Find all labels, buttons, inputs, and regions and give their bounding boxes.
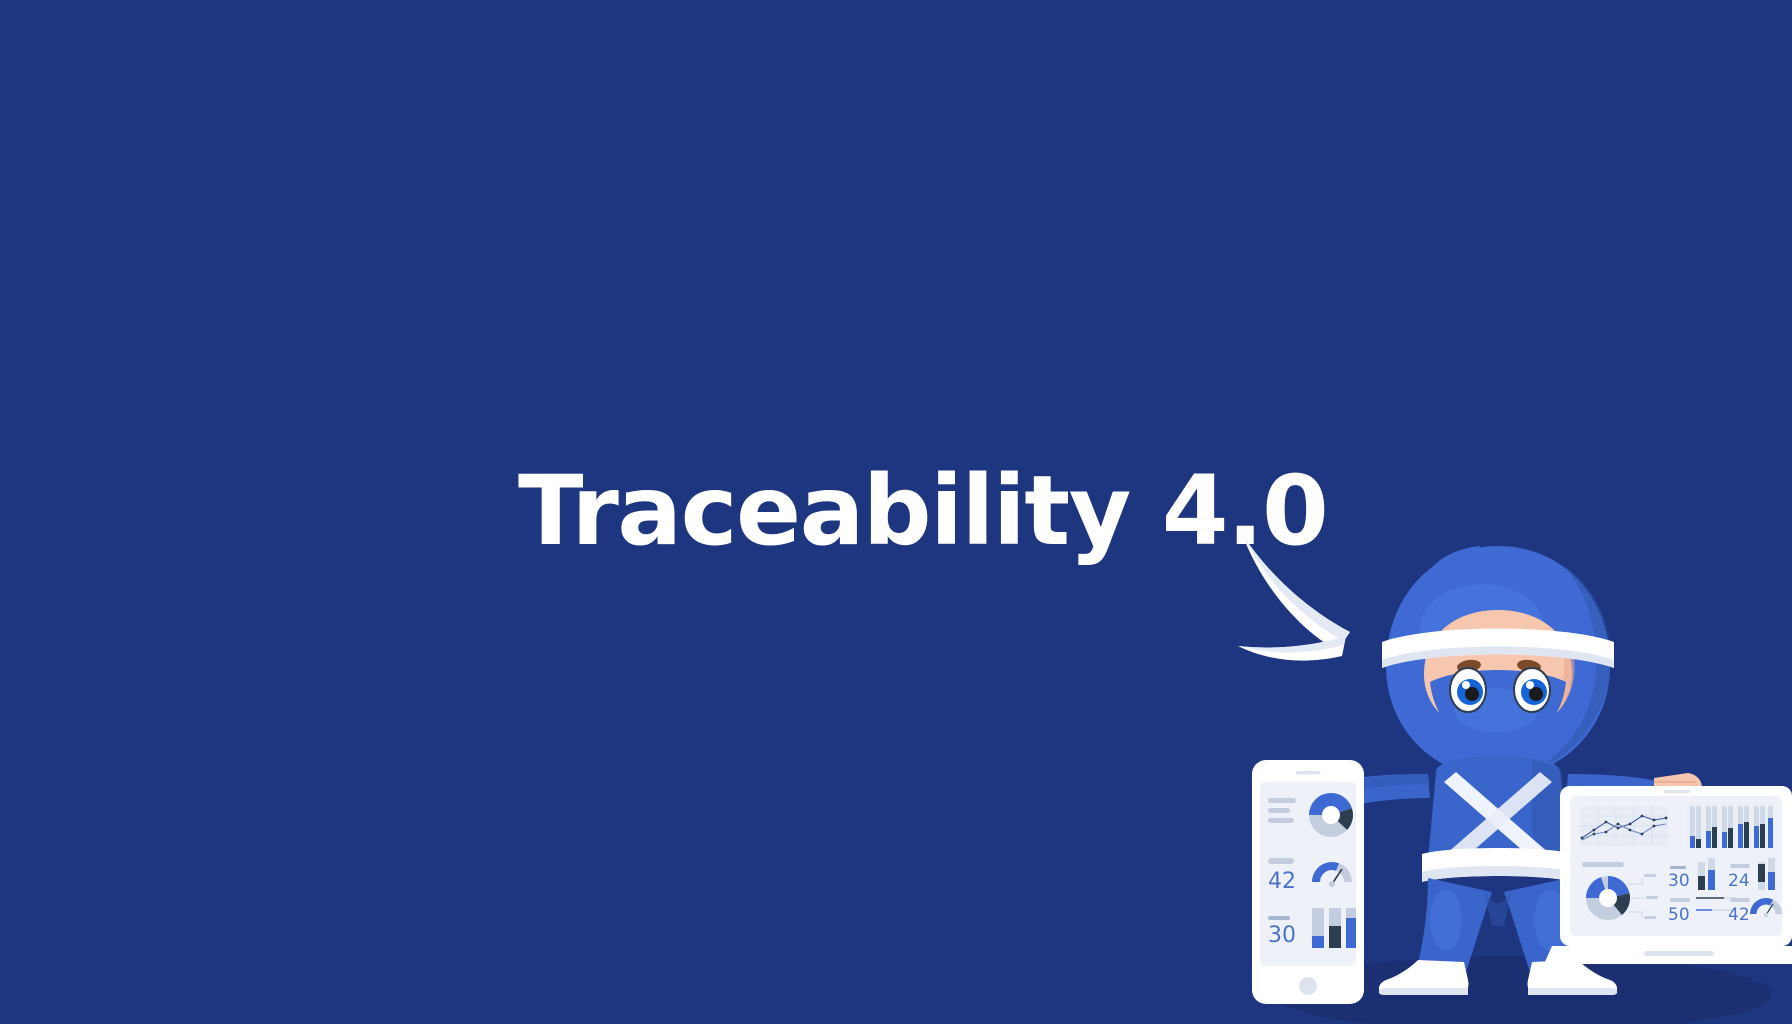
phone-bar-chart [1312, 908, 1358, 948]
laptop-stat-24: 24 [1728, 871, 1750, 891]
phone-home-button [1299, 977, 1317, 995]
ninja-head [1382, 546, 1614, 778]
slide-canvas: Traceability 4.0 [0, 0, 1792, 1024]
ninja-torso [1422, 756, 1574, 882]
phone-stat-30: 30 [1268, 923, 1296, 948]
ninja-analytics-illustration: 42 30 [1232, 524, 1792, 1024]
phone-device: 42 30 [1252, 760, 1364, 1004]
phone-stat-42: 42 [1268, 869, 1296, 894]
left-eye [1450, 668, 1486, 712]
right-eye [1514, 668, 1550, 712]
headband-tails [1238, 534, 1350, 661]
laptop-device: 30 24 50 [1544, 786, 1792, 964]
laptop-stat-50: 50 [1668, 905, 1690, 925]
laptop-donut-chart [1586, 876, 1630, 920]
laptop-stat-30: 30 [1668, 871, 1690, 891]
laptop-line-chart [1580, 806, 1668, 846]
page-title: Traceability 4.0 [518, 460, 1327, 564]
laptop-bar-chart [1686, 804, 1774, 848]
phone-donut-chart [1309, 793, 1353, 837]
laptop-stat-42: 42 [1728, 905, 1750, 925]
